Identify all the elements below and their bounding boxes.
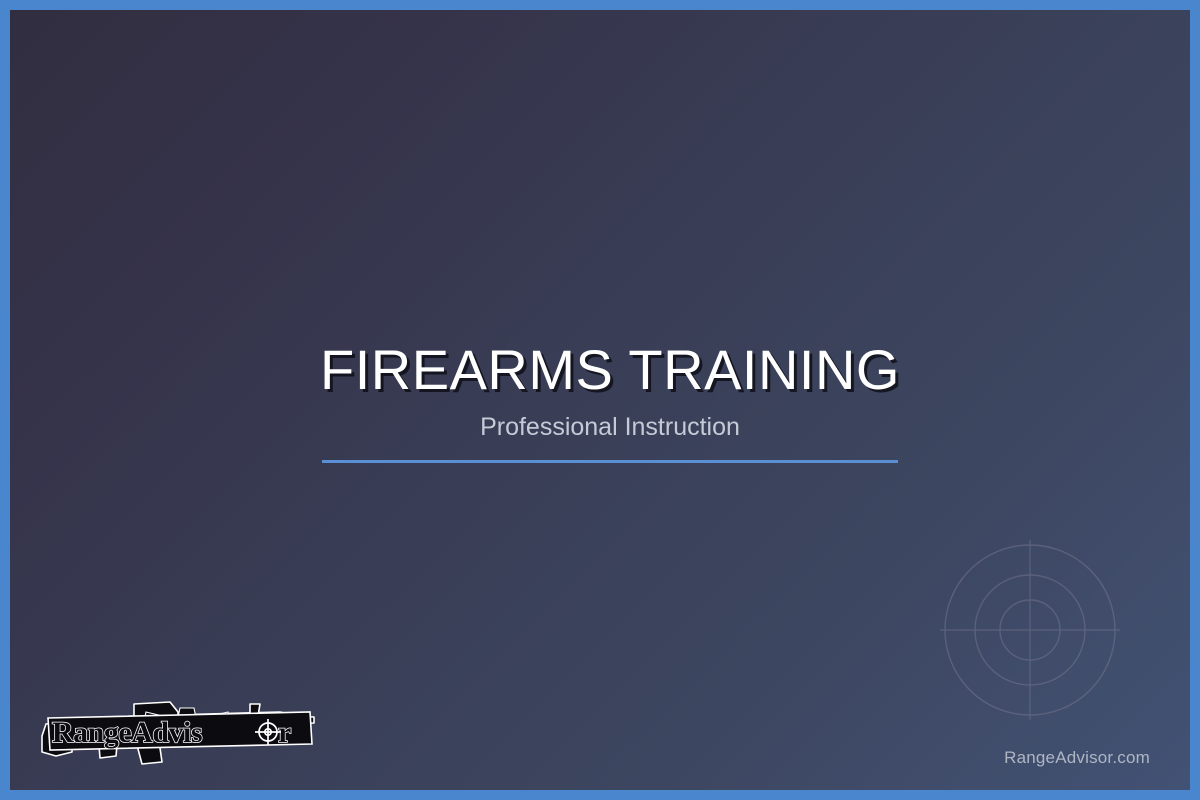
footer-url: RangeAdvisor.com xyxy=(1004,748,1150,768)
title-accent-rule xyxy=(322,460,898,463)
logo-wordmark: RangeAdvis xyxy=(52,716,202,749)
slide-subtitle: Professional Instruction xyxy=(10,412,1200,442)
page-title: FIREARMS TRAINING xyxy=(10,340,1200,400)
title-block: FIREARMS TRAINING Professional Instructi… xyxy=(10,340,1200,463)
brand-logo: RangeAdvis r xyxy=(38,678,322,770)
presentation-slide: FIREARMS TRAINING Professional Instructi… xyxy=(0,0,1200,800)
